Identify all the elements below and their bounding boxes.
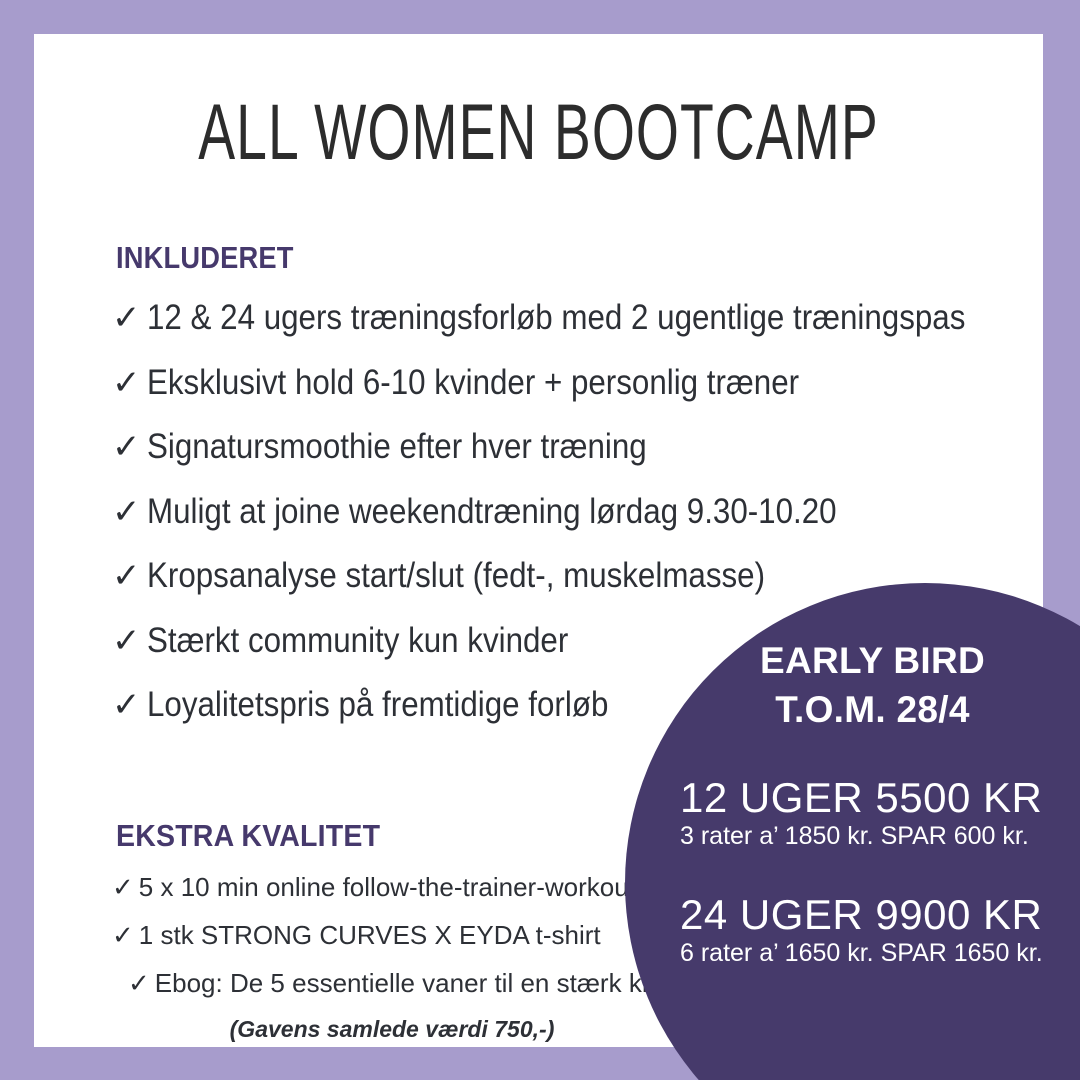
list-item-label: Loyalitetspris på fremtidige forløb [147, 687, 608, 722]
check-icon: ✓ [112, 301, 141, 335]
price-headline: 12 UGER 5500 KR [680, 774, 1065, 821]
early-bird-title-line1: EARLY BIRD [680, 636, 1065, 685]
check-icon: ✓ [112, 430, 141, 464]
check-icon: ✓ [112, 366, 141, 400]
price-option-24-weeks: 24 UGER 9900 KR 6 rater a’ 1650 kr. SPAR… [680, 891, 1065, 969]
gift-value-note: (Gavens samlede værdi 750,-) [112, 1016, 672, 1043]
list-item: ✓ 1 stk STRONG CURVES X EYDA t-shirt [112, 922, 712, 970]
extra-list: ✓ 5 x 10 min online follow-the-trainer-w… [112, 874, 712, 1018]
list-item: ✓ Signatursmoothie efter hver træning [112, 429, 1032, 494]
price-headline: 24 UGER 9900 KR [680, 891, 1065, 938]
check-icon: ✓ [112, 922, 134, 948]
list-item: ✓ Ebog: De 5 essentielle vaner til en st… [112, 970, 712, 1018]
list-item: ✓ Eksklusivt hold 6-10 kvinder + personl… [112, 365, 1032, 430]
list-item-label: Ebog: De 5 essentielle vaner til en stær… [155, 970, 680, 996]
section-heading-included: INKLUDERET [116, 240, 294, 276]
check-icon: ✓ [128, 970, 150, 996]
check-icon: ✓ [112, 874, 134, 900]
page-title: ALL WOMEN BOOTCAMP [185, 92, 891, 171]
section-heading-extra: EKSTRA KVALITET [116, 818, 380, 854]
list-item-label: 12 & 24 ugers træningsforløb med 2 ugent… [147, 300, 965, 335]
check-icon: ✓ [112, 688, 141, 722]
price-detail: 3 rater a’ 1850 kr. SPAR 600 kr. [680, 821, 1065, 852]
price-detail: 6 rater a’ 1650 kr. SPAR 1650 kr. [680, 938, 1065, 969]
list-item-label: 5 x 10 min online follow-the-trainer-wor… [139, 874, 649, 900]
early-bird-content: EARLY BIRD T.O.M. 28/4 12 UGER 5500 KR 3… [625, 583, 1065, 969]
list-item-label: 1 stk STRONG CURVES X EYDA t-shirt [139, 922, 601, 948]
check-icon: ✓ [112, 559, 141, 593]
list-item-label: Signatursmoothie efter hver træning [147, 429, 647, 464]
poster-root: ALL WOMEN BOOTCAMP INKLUDERET ✓ 12 & 24 … [0, 0, 1080, 1080]
list-item: ✓ Muligt at joine weekendtræning lørdag … [112, 494, 1032, 559]
list-item-label: Muligt at joine weekendtræning lørdag 9.… [147, 494, 837, 529]
list-item-label: Stærkt community kun kvinder [147, 623, 568, 658]
early-bird-title-line2: T.O.M. 28/4 [680, 685, 1065, 734]
early-bird-badge: EARLY BIRD T.O.M. 28/4 12 UGER 5500 KR 3… [625, 583, 1080, 1080]
list-item: ✓ 5 x 10 min online follow-the-trainer-w… [112, 874, 712, 922]
check-icon: ✓ [112, 624, 141, 658]
price-option-12-weeks: 12 UGER 5500 KR 3 rater a’ 1850 kr. SPAR… [680, 774, 1065, 852]
list-item-label: Eksklusivt hold 6-10 kvinder + personlig… [147, 365, 799, 400]
list-item: ✓ 12 & 24 ugers træningsforløb med 2 uge… [112, 300, 1032, 365]
check-icon: ✓ [112, 495, 141, 529]
